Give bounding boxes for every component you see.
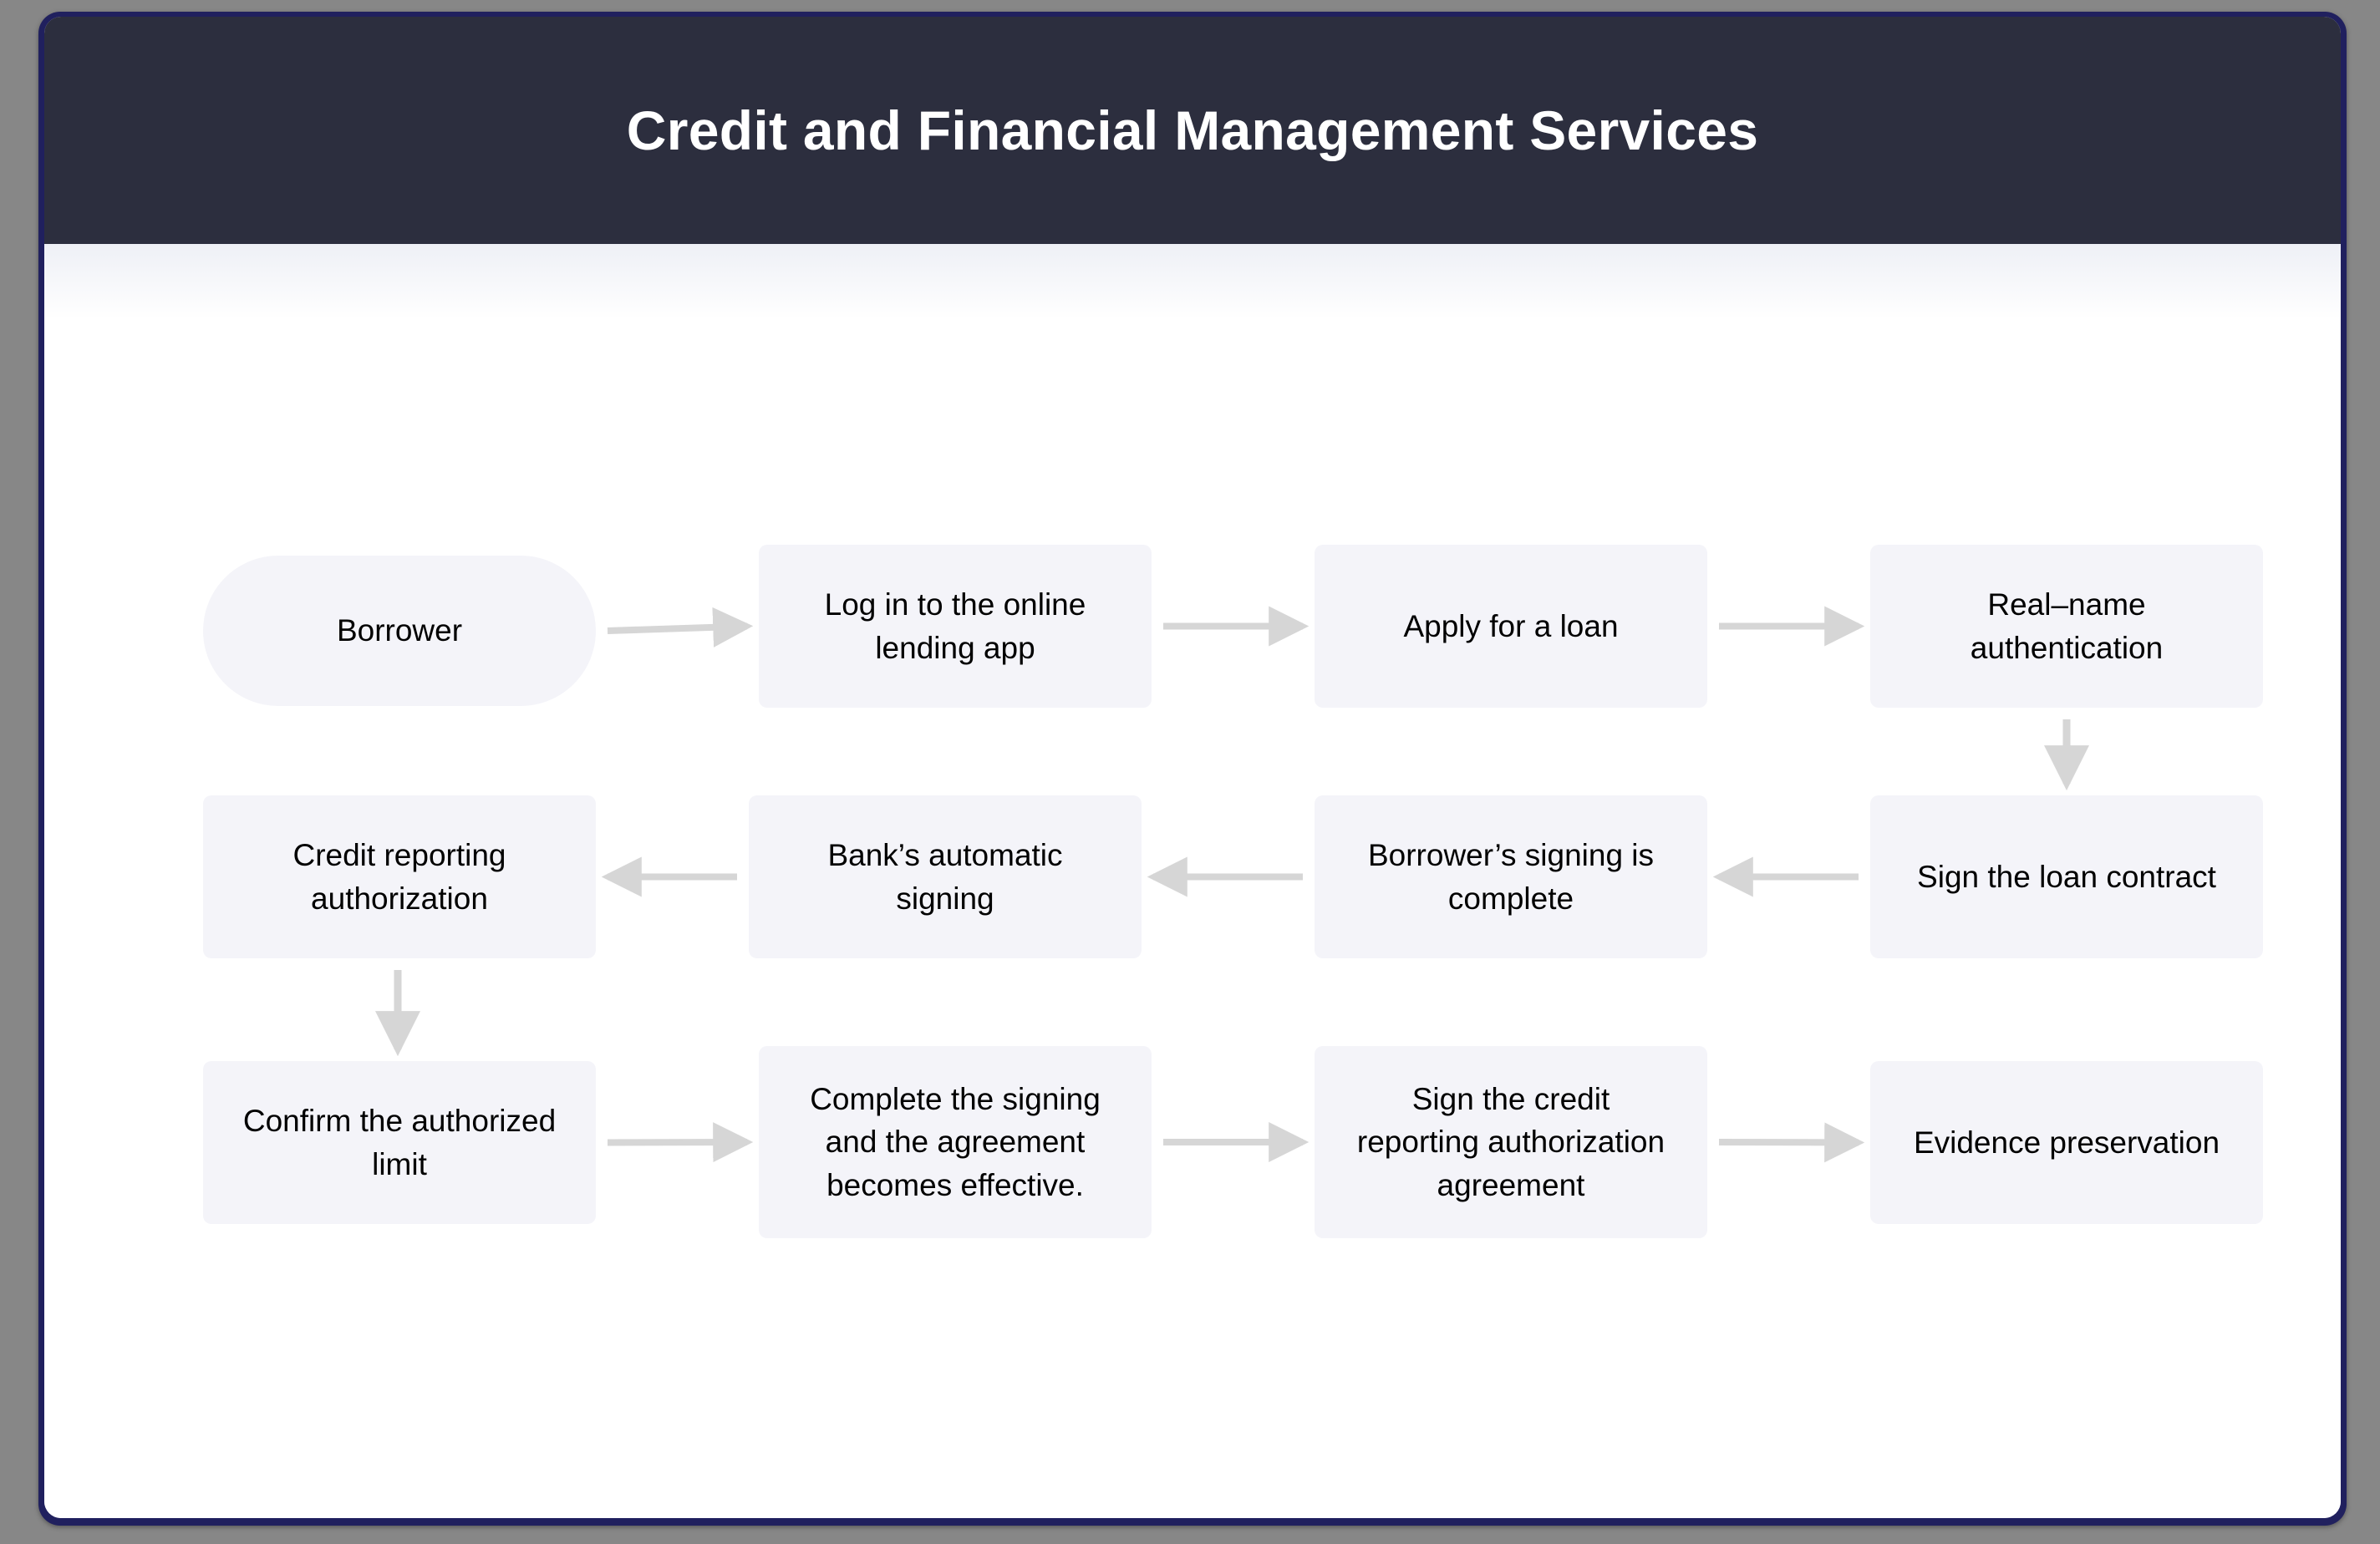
flow-edge-confirm-limit-to-agreement-live: [608, 1142, 747, 1143]
flow-edge-sign-credit-agr-to-evidence: [1719, 1142, 1859, 1143]
diagram-canvas[interactable]: BorrowerLog in to the online lending app…: [44, 244, 2341, 1518]
flow-node-label: Borrower: [337, 609, 462, 652]
flow-edge-borrower-to-login-app: [608, 627, 747, 632]
page-title: Credit and Financial Management Services: [627, 100, 1758, 161]
flow-node-label: Real–name authentication: [1971, 583, 2163, 668]
title-bar: Credit and Financial Management Services: [44, 17, 2341, 244]
app-window-frame: Credit and Financial Management Services…: [38, 12, 2347, 1526]
flow-node-sign-contract[interactable]: Sign the loan contract: [1870, 795, 2263, 958]
flow-node-borrower-signed[interactable]: Borrower’s signing is complete: [1315, 795, 1707, 958]
flow-node-real-name-auth[interactable]: Real–name authentication: [1870, 545, 2263, 708]
flow-node-sign-credit-agr[interactable]: Sign the credit reporting authorization …: [1315, 1046, 1707, 1238]
flow-node-bank-auto-sign[interactable]: Bank’s automatic signing: [749, 795, 1142, 958]
flow-node-label: Log in to the online lending app: [825, 583, 1086, 668]
flowchart: BorrowerLog in to the online lending app…: [44, 244, 2341, 1518]
flow-node-login-app[interactable]: Log in to the online lending app: [759, 545, 1152, 708]
flow-node-borrower[interactable]: Borrower: [203, 556, 596, 706]
flow-node-label: Borrower’s signing is complete: [1368, 834, 1654, 919]
flow-node-confirm-limit[interactable]: Confirm the authorized limit: [203, 1061, 596, 1224]
flow-node-label: Confirm the authorized limit: [243, 1100, 556, 1185]
app-card: Credit and Financial Management Services…: [44, 17, 2341, 1518]
flow-node-apply-loan[interactable]: Apply for a loan: [1315, 545, 1707, 708]
flow-node-agreement-live[interactable]: Complete the signing and the agreement b…: [759, 1046, 1152, 1238]
flow-node-label: Complete the signing and the agreement b…: [810, 1078, 1101, 1206]
flow-node-label: Evidence preservation: [1914, 1121, 2220, 1164]
flow-node-label: Sign the credit reporting authorization …: [1357, 1078, 1665, 1206]
flow-node-credit-auth[interactable]: Credit reporting authorization: [203, 795, 596, 958]
flow-node-label: Credit reporting authorization: [292, 834, 506, 919]
flow-node-evidence[interactable]: Evidence preservation: [1870, 1061, 2263, 1224]
flow-node-label: Apply for a loan: [1403, 605, 1618, 648]
flow-node-label: Sign the loan contract: [1917, 856, 2216, 898]
flow-node-label: Bank’s automatic signing: [827, 834, 1062, 919]
